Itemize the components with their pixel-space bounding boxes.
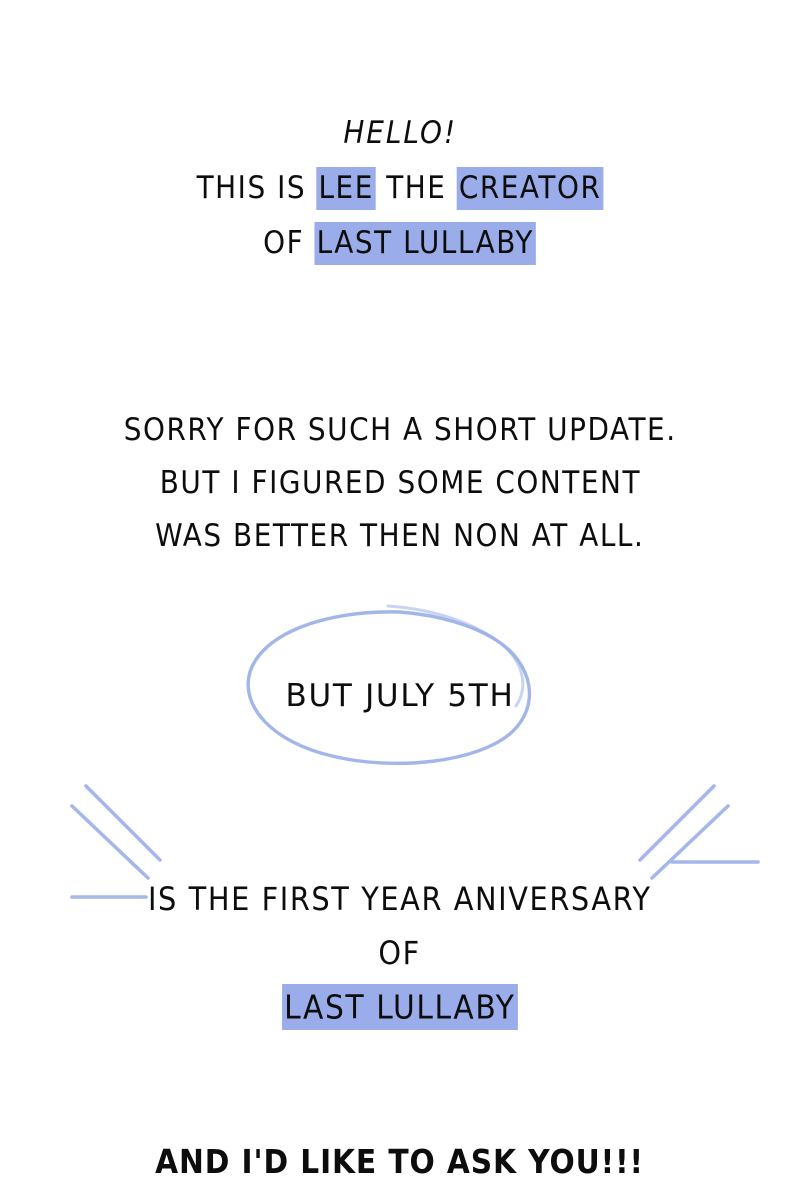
highlight-creator-role: CREATOR [457, 167, 603, 210]
anniversary-text-block: IS THE FIRST YEAR ANIVERSARY OF LAST LUL… [0, 875, 800, 1037]
date-text: BUT JULY 5TH [286, 678, 515, 714]
intro-line-series: OF LAST LULLABY [0, 218, 800, 273]
apology-text-2: BUT I FIGURED SOME CONTENT [159, 459, 640, 507]
closing-line: AND I'D LIKE TO ASK YOU!!! [0, 1142, 800, 1181]
anniversary-line-3: LAST LULLABY [0, 983, 800, 1037]
webtoon-author-note-panel: HELLO! THIS IS LEE THE CREATOR OF LAST L… [0, 0, 800, 1200]
right-diagonal-line-1 [640, 786, 714, 860]
anniversary-line-1: IS THE FIRST YEAR ANIVERSARY [0, 875, 800, 929]
anniversary-series-line: LAST LULLABY [282, 983, 518, 1031]
intro-creator-line: THIS IS LEE THE CREATOR [197, 163, 604, 213]
highlight-series-title: LAST LULLABY [315, 222, 536, 265]
apology-text-block: SORRY FOR SUCH A SHORT UPDATE. BUT I FIG… [0, 406, 800, 565]
date-callout: BUT JULY 5TH [0, 600, 800, 780]
apology-line-3: WAS BETTER THEN NON AT ALL. [0, 512, 800, 565]
closing-text: AND I'D LIKE TO ASK YOU!!! [156, 1142, 645, 1181]
apology-line-2: BUT I FIGURED SOME CONTENT [0, 459, 800, 512]
intro-line-creator: THIS IS LEE THE CREATOR [0, 163, 800, 218]
greeting-text: HELLO! [343, 108, 457, 158]
intro-prefix-this-is: THIS IS [197, 170, 317, 206]
highlight-author-name: LEE [317, 167, 376, 210]
closing-text-block: AND I'D LIKE TO ASK YOU!!! [0, 1142, 800, 1181]
left-diagonal-line-1 [86, 786, 160, 860]
apology-line-1: SORRY FOR SUCH A SHORT UPDATE. [0, 406, 800, 459]
anniversary-line-2: OF [0, 929, 800, 983]
apology-text-3: WAS BETTER THEN NON AT ALL. [155, 512, 644, 560]
intro-series-line: OF LAST LULLABY [264, 218, 537, 268]
highlight-series-title-bottom: LAST LULLABY [282, 984, 518, 1031]
intro-text-block: HELLO! THIS IS LEE THE CREATOR OF LAST L… [0, 108, 800, 273]
anniversary-connector-of: OF [379, 929, 421, 977]
anniversary-headline: IS THE FIRST YEAR ANIVERSARY [148, 875, 652, 923]
right-diagonal-line-2 [652, 806, 728, 878]
intro-connector-the: THE [376, 170, 457, 206]
intro-prefix-of: OF [264, 225, 315, 261]
left-diagonal-line-2 [72, 806, 148, 878]
intro-line-greeting: HELLO! [0, 108, 800, 163]
apology-text-1: SORRY FOR SUCH A SHORT UPDATE. [124, 406, 677, 454]
date-text-wrapper: BUT JULY 5TH [0, 678, 800, 714]
